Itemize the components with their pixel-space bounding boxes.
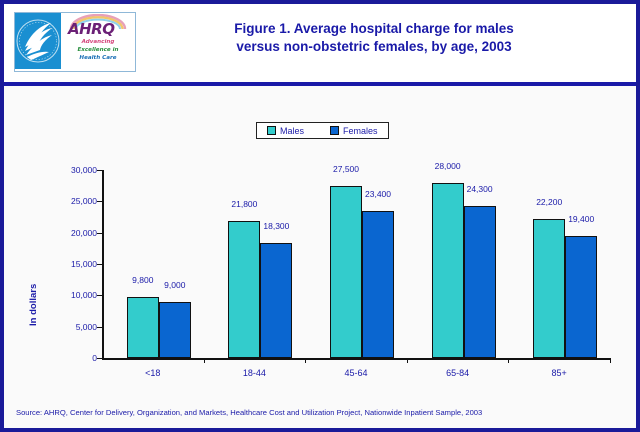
y-axis-tick-mark <box>97 233 102 234</box>
bar-females-<18 <box>159 302 191 358</box>
bar-males-18-44 <box>228 221 260 358</box>
y-axis-label: In dollars <box>28 284 39 326</box>
y-axis-tick-label: 10,000 <box>71 290 97 300</box>
bar-value-label: 9,000 <box>164 280 185 290</box>
bar-females-65-84 <box>464 206 496 358</box>
bar-females-18-44 <box>260 243 292 358</box>
bar-value-label: 27,500 <box>333 164 359 174</box>
ahrq-logo: AHRQ Advancing Excellence in Health Care <box>14 12 136 72</box>
x-axis-tick-mark <box>610 358 611 363</box>
bar-males-<18 <box>127 297 159 358</box>
bar-value-label: 19,400 <box>568 214 594 224</box>
x-axis-label-45-64: 45-64 <box>344 368 367 378</box>
bar-males-85+ <box>533 219 565 358</box>
header: AHRQ Advancing Excellence in Health Care… <box>4 4 636 82</box>
y-axis-tick-mark <box>97 358 102 359</box>
bar-value-label: 22,200 <box>536 197 562 207</box>
y-axis-tick-mark <box>97 170 102 171</box>
bar-group: 27,50023,400 <box>330 170 394 358</box>
x-axis-line <box>102 358 610 360</box>
bar-females-85+ <box>565 236 597 358</box>
y-axis-line <box>102 170 104 360</box>
figure-title-line-1: Figure 1. Average hospital charge for ma… <box>154 20 594 38</box>
tagline-line-1: Advancing <box>61 39 135 45</box>
x-axis-tick-mark <box>407 358 408 363</box>
bar-group: 21,80018,300 <box>228 170 292 358</box>
bar-females-45-64 <box>362 211 394 358</box>
tagline-line-3: Health Care <box>61 55 135 61</box>
bar-value-label: 24,300 <box>467 184 493 194</box>
y-axis-tick-label: 25,000 <box>71 196 97 206</box>
y-axis-tick-mark <box>97 201 102 202</box>
y-axis-tick-label: 5,000 <box>76 322 97 332</box>
tagline-line-2: Excellence in <box>61 47 135 53</box>
y-axis-tick-mark <box>97 327 102 328</box>
x-axis-label-<18: <18 <box>145 368 160 378</box>
ahrq-wordmark: AHRQ Advancing Excellence in Health Care <box>61 13 135 71</box>
y-axis-tick-mark <box>97 264 102 265</box>
bar-value-label: 21,800 <box>231 199 257 209</box>
x-axis-label-65-84: 65-84 <box>446 368 469 378</box>
bar-group: 9,8009,000 <box>127 170 191 358</box>
bar-value-label: 18,300 <box>263 221 289 231</box>
figure-title: Figure 1. Average hospital charge for ma… <box>154 20 594 56</box>
y-axis-tick-label: 15,000 <box>71 259 97 269</box>
hhs-seal-icon <box>15 13 61 69</box>
x-axis-label-85+: 85+ <box>552 368 567 378</box>
bar-value-label: 28,000 <box>435 161 461 171</box>
bar-males-65-84 <box>432 183 464 358</box>
figure-frame: AHRQ Advancing Excellence in Health Care… <box>0 0 640 432</box>
y-axis-tick-label: 20,000 <box>71 228 97 238</box>
header-divider <box>4 82 636 86</box>
bar-value-label: 9,800 <box>132 275 153 285</box>
source-note: Source: AHRQ, Center for Delivery, Organ… <box>16 408 482 417</box>
y-axis-tick-label: 30,000 <box>71 165 97 175</box>
bar-chart: 05,00010,00015,00020,00025,00030,0009,80… <box>102 170 610 360</box>
y-axis-tick-mark <box>97 295 102 296</box>
ahrq-acronym: AHRQ <box>68 20 114 38</box>
x-axis-tick-mark <box>508 358 509 363</box>
x-axis-tick-mark <box>204 358 205 363</box>
bar-group: 28,00024,300 <box>432 170 496 358</box>
bar-males-45-64 <box>330 186 362 358</box>
x-axis-label-18-44: 18-44 <box>243 368 266 378</box>
figure-title-line-2: versus non-obstetric females, by age, 20… <box>154 38 594 56</box>
plot-area: In dollars 05,00010,00015,00020,00025,00… <box>4 90 636 390</box>
x-axis-tick-mark <box>305 358 306 363</box>
bar-value-label: 23,400 <box>365 189 391 199</box>
bar-group: 22,20019,400 <box>533 170 597 358</box>
